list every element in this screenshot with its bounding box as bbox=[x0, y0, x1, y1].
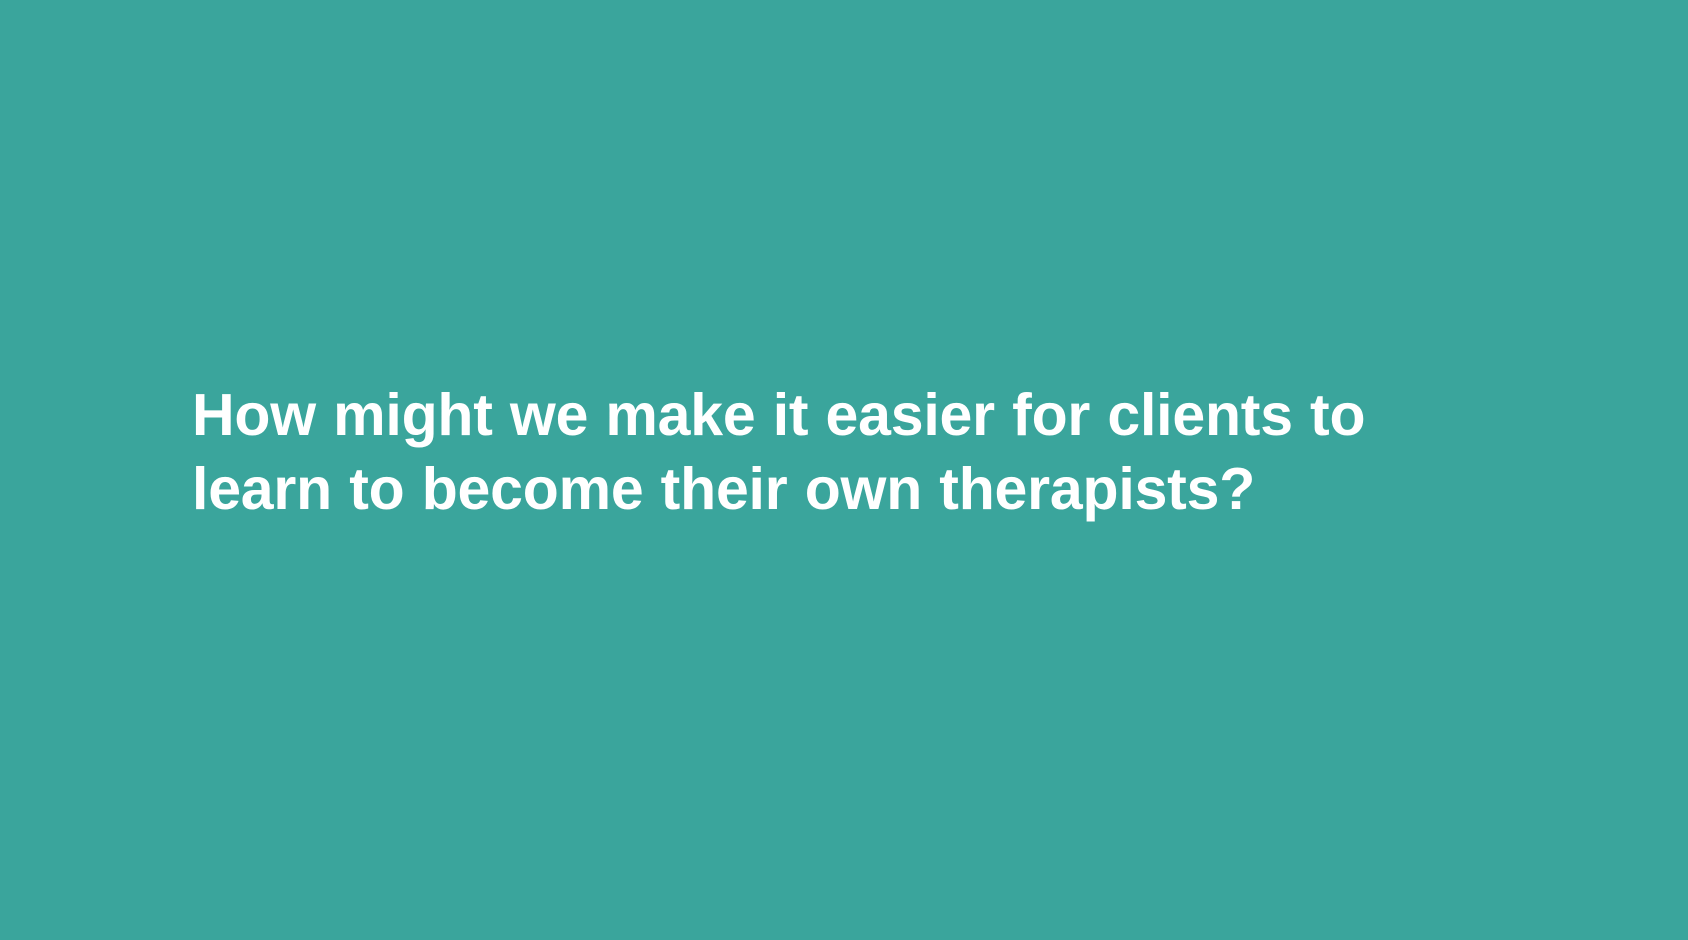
slide-canvas: How might we make it easier for clients … bbox=[0, 0, 1688, 940]
headline-block: How might we make it easier for clients … bbox=[192, 378, 1392, 526]
page-title: How might we make it easier for clients … bbox=[192, 378, 1392, 526]
